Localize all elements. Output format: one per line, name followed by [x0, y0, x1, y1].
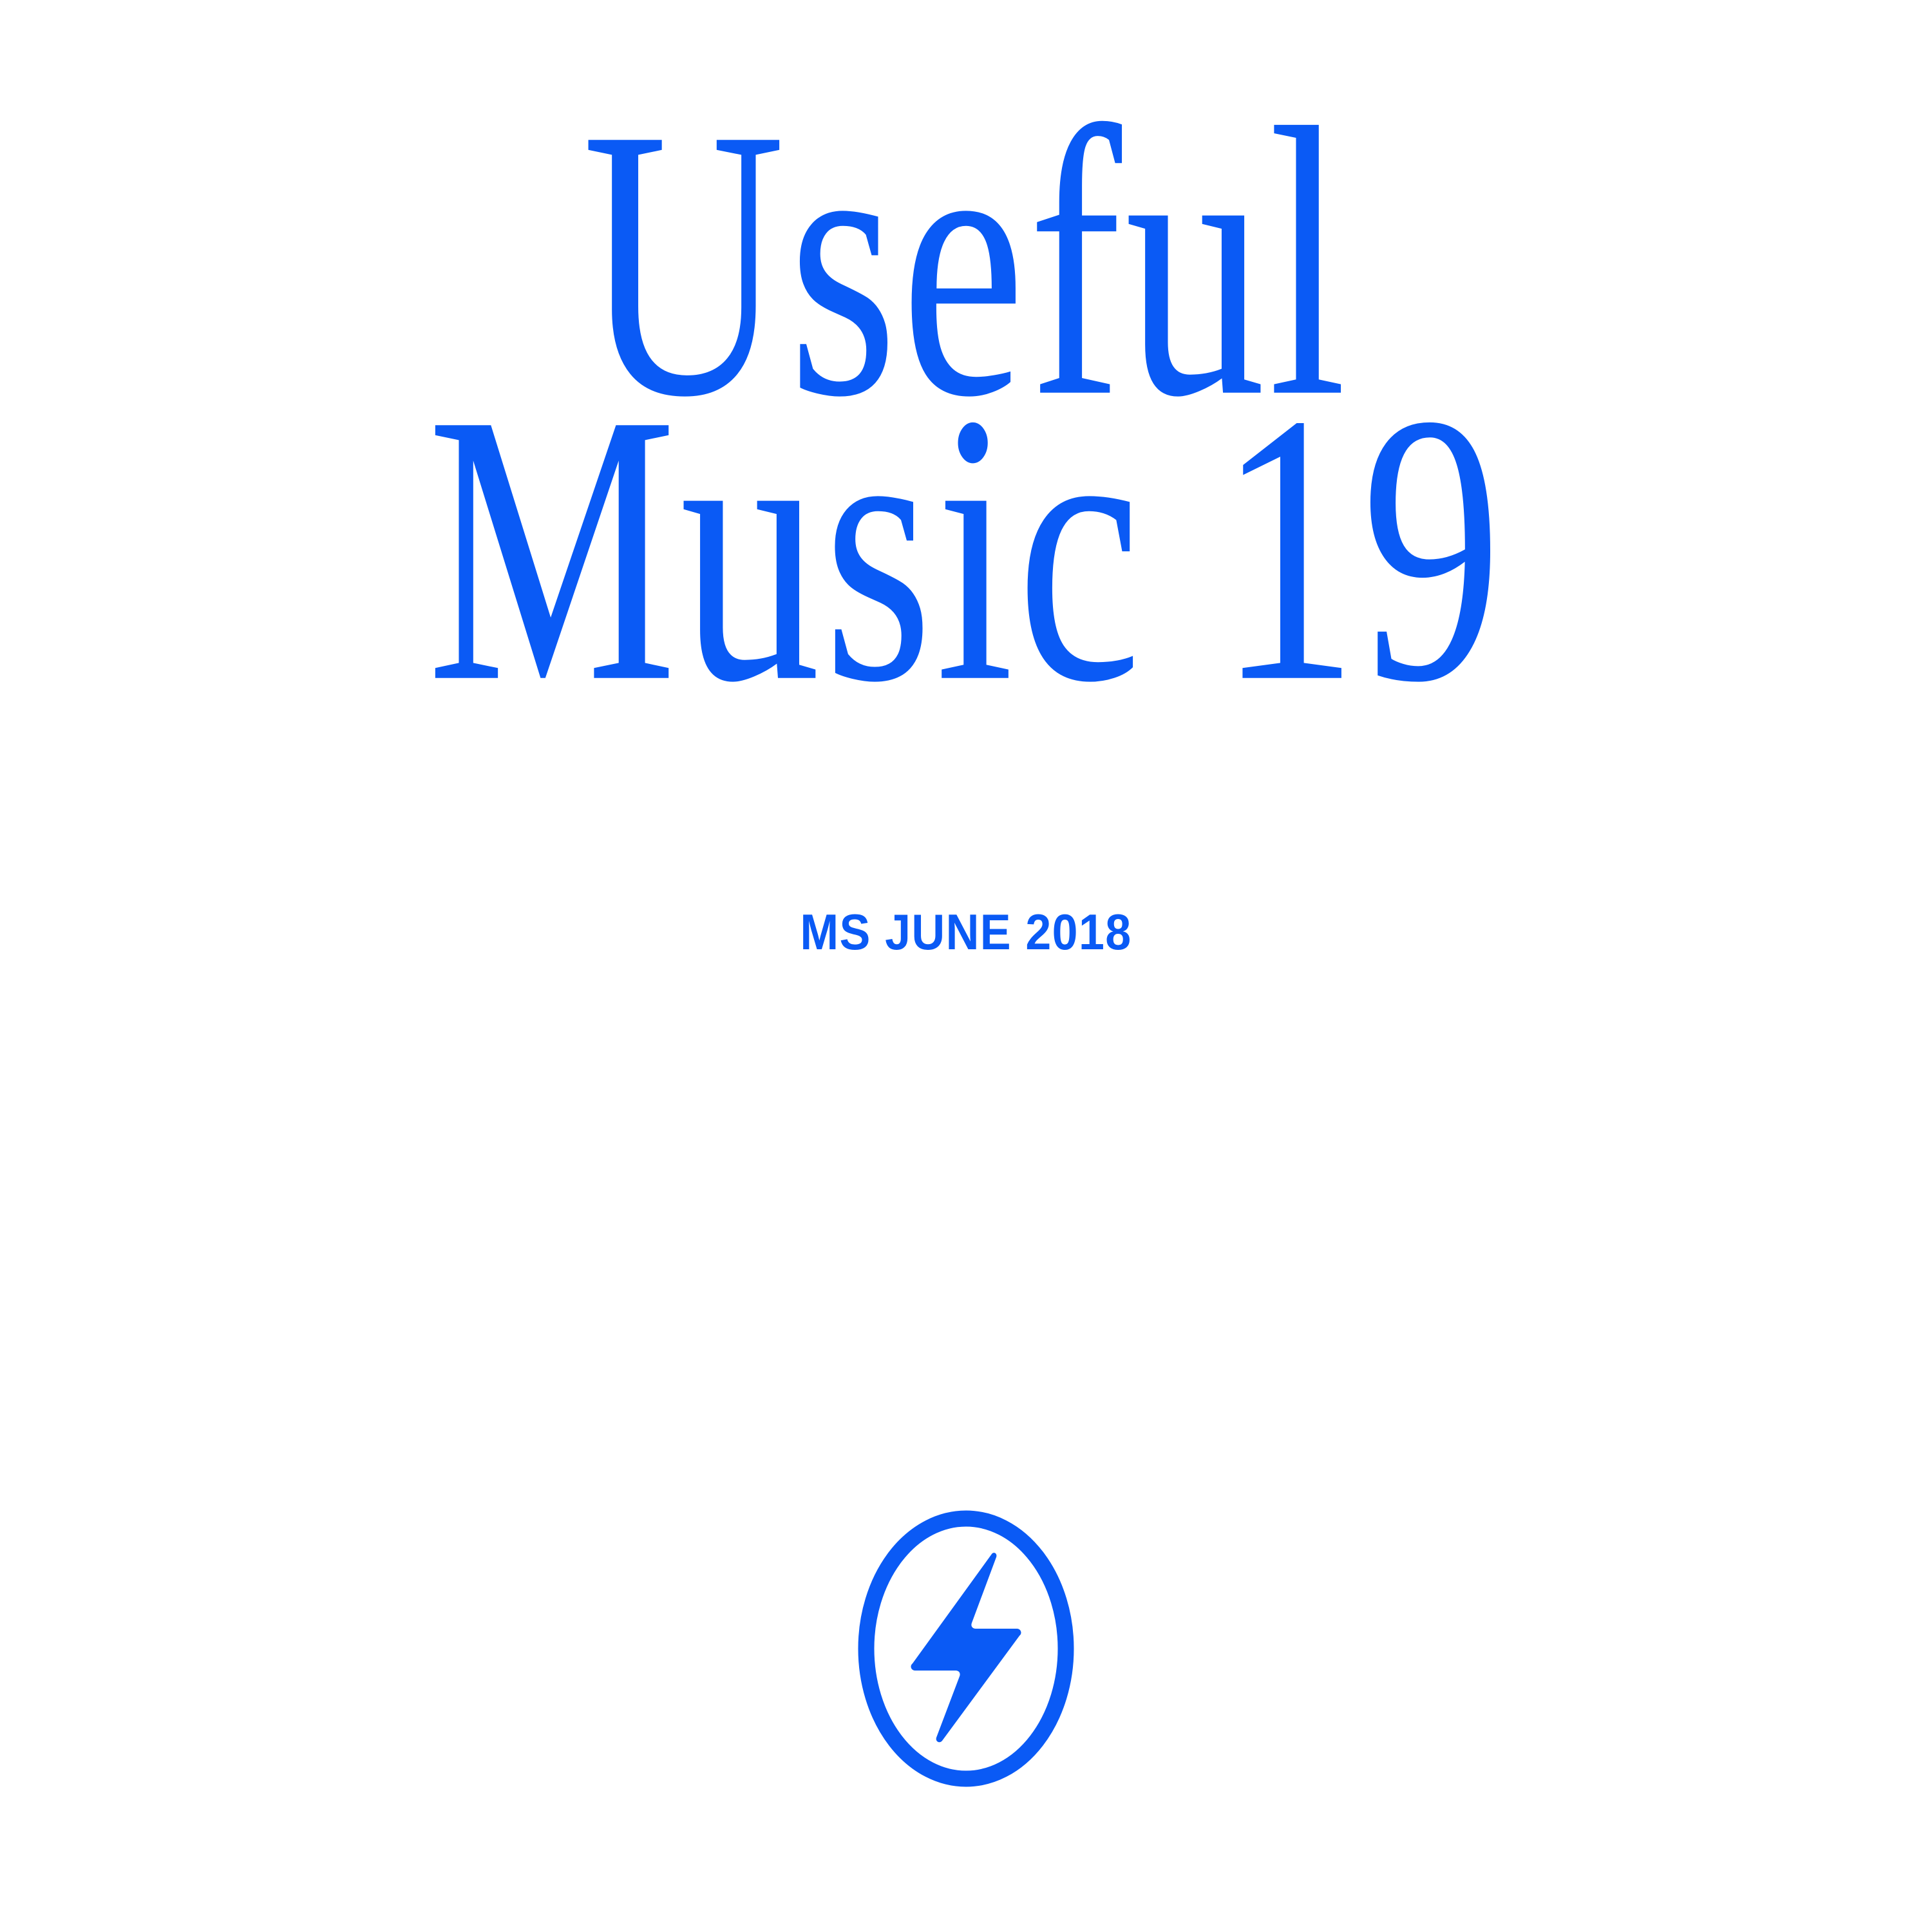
album-cover: Useful Music 19 MS JUNE 2018 [0, 0, 1932, 1932]
lightning-bolt-in-oval-icon [858, 1510, 1074, 1787]
title-line-2: Music 19 [193, 382, 1739, 714]
lightning-bolt-icon [911, 1553, 1021, 1742]
subtitle-text: MS JUNE 2018 [800, 907, 1132, 957]
cover-title: Useful Music 19 [0, 97, 1932, 683]
cover-logo [0, 1510, 1932, 1787]
cover-subtitle: MS JUNE 2018 [0, 907, 1932, 957]
